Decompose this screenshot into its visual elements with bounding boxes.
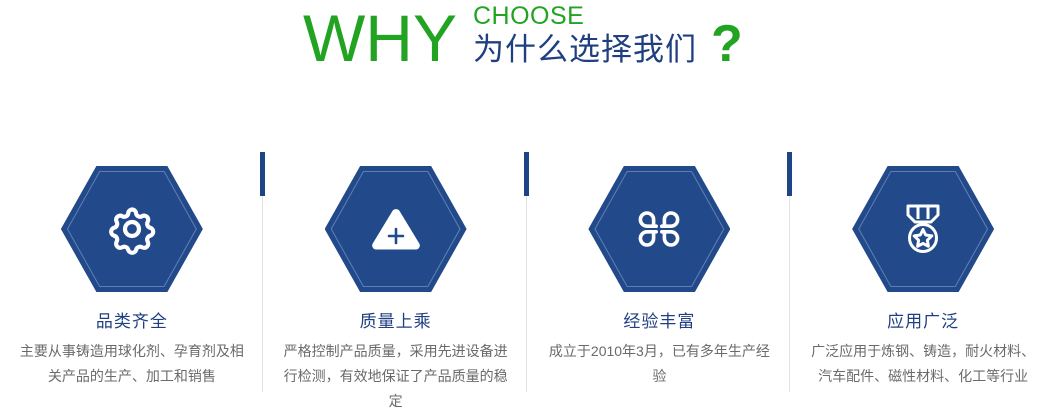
feature-card-1: 品类齐全 主要从事铸造用球化剂、孕育剂及相关产品的生产、加工和销售 (0, 150, 264, 416)
card-description: 严格控制产品质量，采用先进设备进行检测，有效地保证了产品质量的稳定 (280, 339, 512, 414)
heading-text-stack: CHOOSE 为什么选择我们 (473, 2, 697, 69)
feature-card-2: 质量上乘 严格控制产品质量，采用先进设备进行检测，有效地保证了产品质量的稳定 (264, 150, 528, 416)
hexagon-badge-1 (61, 166, 203, 292)
card-description: 主要从事铸造用球化剂、孕育剂及相关产品的生产、加工和销售 (16, 339, 248, 389)
hexagon-badge-4 (852, 166, 994, 292)
divider-cap (260, 152, 265, 196)
feature-card-3: 经验丰富 成立于2010年3月，已有多年生产经验 (528, 150, 792, 416)
section-heading: WHY CHOOSE 为什么选择我们 ? (0, 0, 1055, 92)
heading-chinese-title: 为什么选择我们 (473, 31, 697, 69)
heading-choose: CHOOSE (473, 2, 697, 30)
card-title: 品类齐全 (96, 312, 168, 332)
hexagon-badge-3 (588, 166, 730, 292)
heading-why: WHY (303, 2, 457, 74)
card-title: 质量上乘 (360, 312, 432, 332)
card-description: 成立于2010年3月，已有多年生产经验 (543, 339, 775, 389)
triangle-plus-icon (325, 166, 467, 292)
heading-inner: WHY CHOOSE 为什么选择我们 ? (303, 0, 743, 74)
hexagon-badge-2 (325, 166, 467, 292)
divider-cap (787, 152, 792, 196)
column-divider (524, 152, 529, 392)
feature-card-4: 应用广泛 广泛应用于炼钢、铸造，耐火材料、汽车配件、磁性材料、化工等行业 (791, 150, 1055, 416)
column-divider (260, 152, 265, 392)
heading-question-mark: ? (711, 18, 743, 70)
card-title: 经验丰富 (623, 312, 695, 332)
medal-icon (852, 166, 994, 292)
card-title: 应用广泛 (887, 312, 959, 332)
column-divider (787, 152, 792, 392)
divider-cap (524, 152, 529, 196)
card-description: 广泛应用于炼钢、铸造，耐火材料、汽车配件、磁性材料、化工等行业 (807, 339, 1039, 389)
gear-icon (61, 166, 203, 292)
feature-cards: 品类齐全 主要从事铸造用球化剂、孕育剂及相关产品的生产、加工和销售 质量上乘 严… (0, 150, 1055, 416)
clover-icon (588, 166, 730, 292)
